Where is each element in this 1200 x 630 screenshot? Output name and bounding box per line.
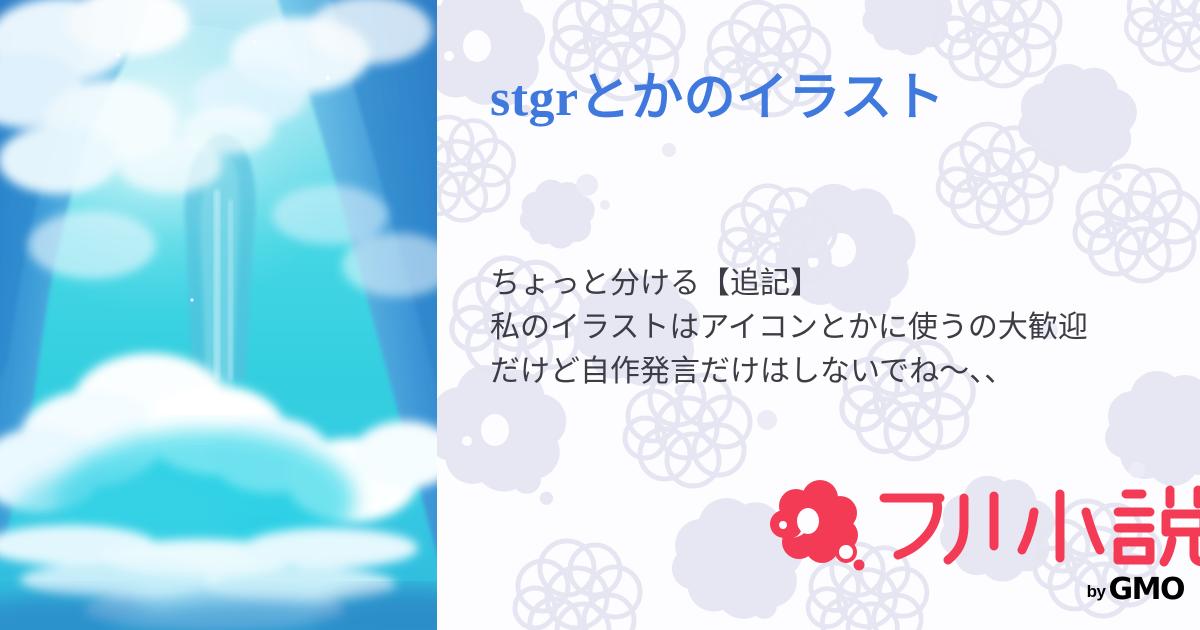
brand-wordmark	[878, 480, 1200, 572]
cover-illustration	[0, 0, 437, 630]
description-line: 私のイラストはアイコンとかに使うの大歓迎	[490, 306, 1180, 350]
description-line: だけど自作発言だけはしないでね〜、、	[490, 350, 1180, 394]
brand-logo: by GMO	[766, 478, 1200, 608]
thought-bubble-flower-icon	[766, 480, 872, 572]
brand-logo-row	[766, 478, 1200, 574]
byline-prefix: by	[1087, 582, 1106, 602]
og-card: stgrとかのイラスト ちょっと分ける【追記】 私のイラストはアイコンとかに使う…	[0, 0, 1200, 630]
description-line: ちょっと分ける【追記】	[490, 262, 1180, 306]
by-gmo-byline: by GMO	[1087, 574, 1184, 604]
byline-company: GMO	[1109, 572, 1184, 607]
content-panel: stgrとかのイラスト ちょっと分ける【追記】 私のイラストはアイコンとかに使う…	[437, 0, 1200, 630]
page-title: stgrとかのイラスト	[490, 68, 1150, 129]
description-block: ちょっと分ける【追記】 私のイラストはアイコンとかに使うの大歓迎 だけど自作発言…	[490, 262, 1180, 393]
